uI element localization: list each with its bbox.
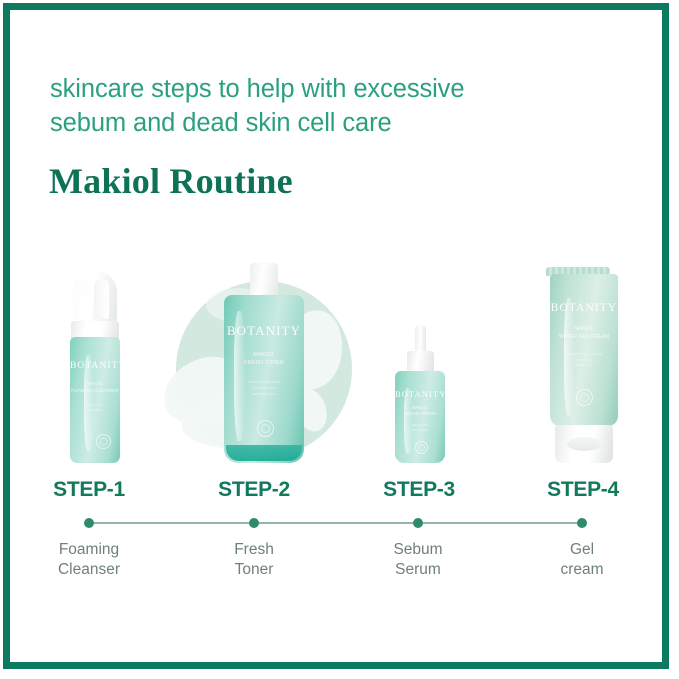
step-caption-2: Fresh Toner: [179, 540, 329, 580]
subtitle-text: skincare steps to help with excessive se…: [50, 72, 590, 140]
step-caption-4: Gel cream: [507, 540, 657, 580]
step-dot-3: [413, 518, 423, 528]
step-label-1: STEP-1: [19, 478, 159, 502]
tube-flip-cap: [555, 425, 613, 463]
product-brand-label: BOTANITY: [550, 302, 618, 314]
product-foaming-cleanser[interactable]: BOTANITY MAKIOL FOAMING CLEANSER clean c…: [62, 271, 128, 463]
product-fresh-toner[interactable]: BOTANITY MAKIOL FRESH TONER soothing hyd…: [224, 263, 304, 463]
product-lineup: BOTANITY MAKIOL FOAMING CLEANSER clean c…: [0, 248, 679, 463]
product-gel-cream[interactable]: BOTANITY MAKIOL WATER GEL CREAM moisturi…: [546, 267, 622, 463]
product-detail-text: moisturizing soothing fresh & light wate…: [550, 352, 618, 369]
dropper-cap: [407, 351, 434, 373]
infographic-page: skincare steps to help with excessive se…: [0, 0, 679, 679]
product-seal-icon: [96, 434, 111, 449]
step-label-4: STEP-4: [513, 478, 653, 502]
product-detail-text: clean care for pores: [70, 403, 120, 413]
serum-bottle-body: BOTANITY MAKIOL SEBUM SERUM light textur…: [395, 371, 445, 463]
step-dot-2: [249, 518, 259, 528]
product-brand-label: BOTANITY: [224, 323, 304, 339]
product-detail-text: light texture for oily skin: [395, 423, 445, 433]
step-timeline-line: [89, 522, 582, 524]
step-label-2: STEP-2: [184, 478, 324, 502]
step-dot-1: [84, 518, 94, 528]
pump-nozzle: [94, 279, 109, 319]
product-brand-label: BOTANITY: [395, 389, 445, 399]
toner-liquid-level: [226, 445, 302, 461]
page-title: Makiol Routine: [49, 160, 293, 202]
step-dot-4: [577, 518, 587, 528]
product-name-label: MAKIOL FOAMING CLEANSER: [70, 381, 120, 394]
product-name-label: MAKIOL WATER GEL CREAM: [550, 326, 618, 341]
product-name-label: MAKIOL SEBUM SERUM: [395, 405, 445, 417]
cleanser-bottle-body: BOTANITY MAKIOL FOAMING CLEANSER clean c…: [70, 337, 120, 463]
gel-cream-tube-body: BOTANITY MAKIOL WATER GEL CREAM moisturi…: [550, 274, 618, 426]
product-sebum-serum[interactable]: BOTANITY MAKIOL SEBUM SERUM light textur…: [393, 325, 447, 463]
product-seal-icon: [415, 441, 428, 454]
product-name-label: MAKIOL FRESH TONER: [224, 351, 304, 367]
step-caption-3: Sebum Serum: [343, 540, 493, 580]
pump-dome-cap: [73, 271, 117, 323]
product-brand-label: BOTANITY: [70, 361, 120, 371]
toner-bottle-body: BOTANITY MAKIOL FRESH TONER soothing hyd…: [224, 295, 304, 463]
step-label-3: STEP-3: [349, 478, 489, 502]
product-detail-text: soothing hydration for daily care sensit…: [224, 379, 304, 397]
product-seal-icon: [576, 389, 593, 406]
product-seal-icon: [257, 420, 274, 437]
step-caption-1: Foaming Cleanser: [14, 540, 164, 580]
